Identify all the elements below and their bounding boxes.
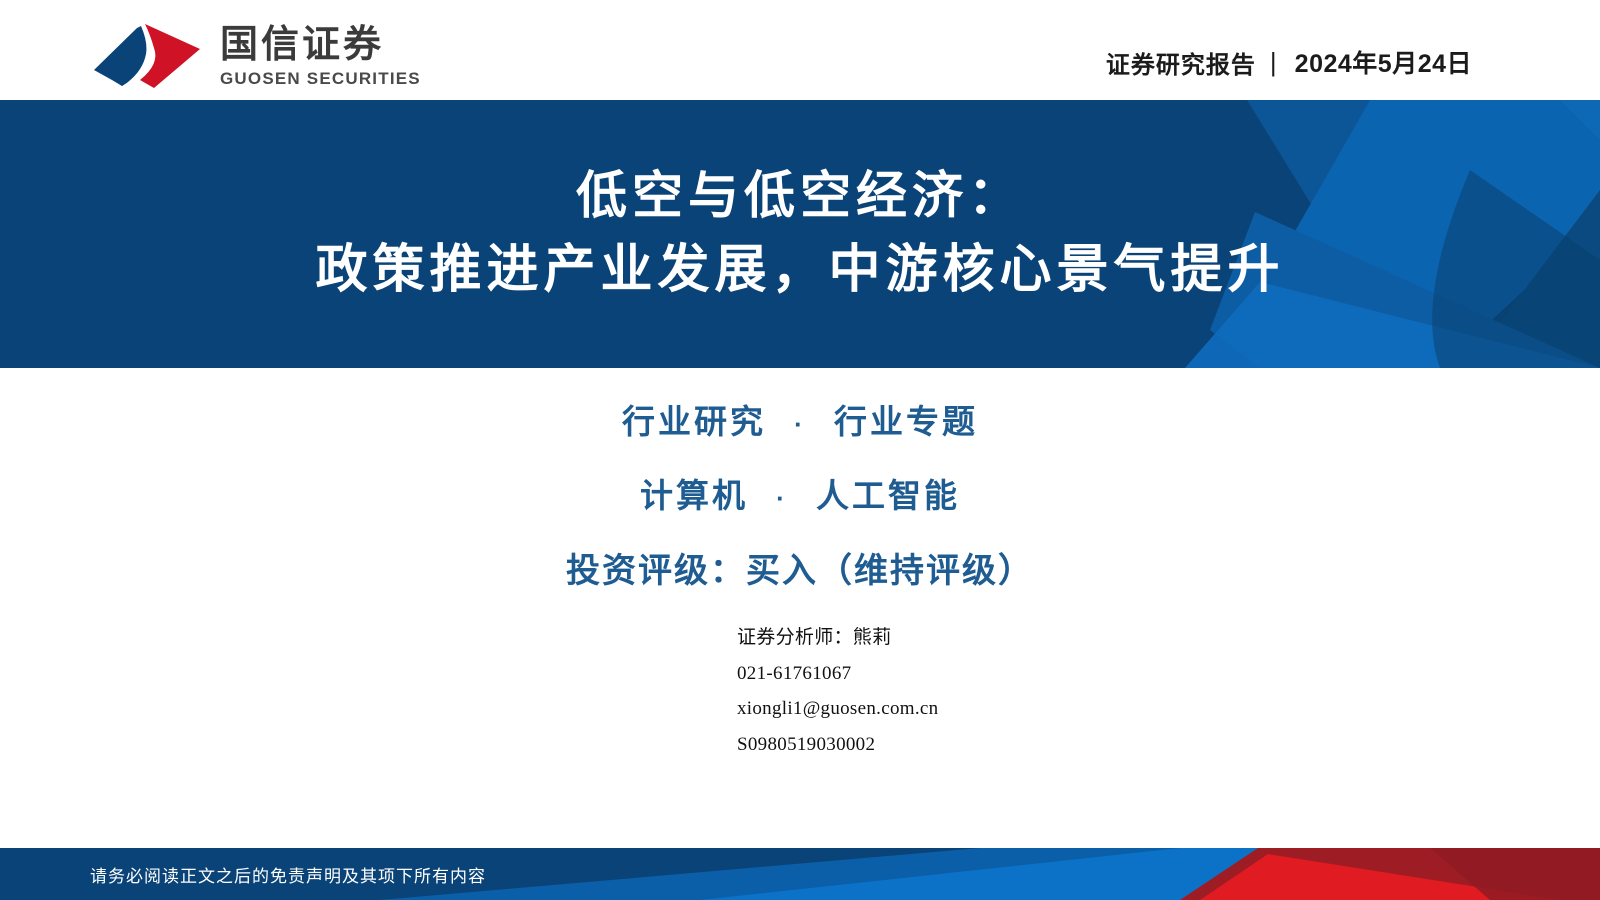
- brand-logo-text: 国信证券 GUOSEN SECURITIES: [220, 22, 421, 90]
- meta-line-sector: 计算机 · 人工智能: [640, 469, 960, 517]
- report-meta-block: 行业研究 · 行业专题 计算机 · 人工智能 投资评级：买入（维持评级）: [0, 395, 1600, 592]
- brand-logo: 国信证券 GUOSEN SECURITIES: [88, 20, 421, 92]
- header-meta: 证券研究报告 | 2024年5月24日: [1106, 44, 1472, 80]
- analyst-phone: 021-61761067: [737, 661, 938, 687]
- analyst-name: 证券分析师：熊莉: [737, 625, 938, 651]
- report-cover-page: 国信证券 GUOSEN SECURITIES 证券研究报告 | 2024年5月2…: [0, 0, 1600, 900]
- brand-name-en: GUOSEN SECURITIES: [220, 68, 421, 90]
- footer-disclaimer: 请务必阅读正文之后的免责声明及其项下所有内容: [90, 848, 486, 900]
- meta-sector-computer: 计算机: [640, 477, 748, 514]
- meta-line-industry: 行业研究 · 行业专题: [622, 395, 978, 443]
- header-separator: |: [1270, 47, 1277, 78]
- brand-name-cn: 国信证券: [220, 26, 421, 66]
- analyst-info-block: 证券分析师：熊莉 021-61761067 xiongli1@guosen.co…: [737, 625, 938, 758]
- report-title-line-1: 低空与低空经济：: [576, 166, 1024, 226]
- report-date: 2024年5月24日: [1295, 44, 1472, 80]
- meta-industry-research: 行业研究: [622, 403, 766, 440]
- analyst-email: xiongli1@guosen.com.cn: [737, 696, 938, 722]
- banner-title-group: 低空与低空经济： 政策推进产业发展，中游核心景气提升: [0, 100, 1600, 368]
- report-title-line-2: 政策推进产业发展，中游核心景气提升: [315, 240, 1284, 301]
- title-banner: 低空与低空经济： 政策推进产业发展，中游核心景气提升: [0, 100, 1600, 368]
- analyst-license: S0980519030002: [737, 732, 938, 758]
- meta-industry-topic: 行业专题: [834, 403, 978, 440]
- meta-sector-ai: 人工智能: [816, 477, 960, 514]
- meta-dot-2: ·: [776, 483, 788, 513]
- report-type-label: 证券研究报告: [1106, 45, 1256, 80]
- guosen-diamond-logo-icon: [88, 20, 206, 92]
- page-header: 国信证券 GUOSEN SECURITIES 证券研究报告 | 2024年5月2…: [0, 0, 1600, 100]
- meta-dot-1: ·: [794, 409, 806, 439]
- page-footer: 请务必阅读正文之后的免责声明及其项下所有内容: [0, 848, 1600, 900]
- investment-rating: 投资评级：买入（维持评级）: [566, 543, 1034, 592]
